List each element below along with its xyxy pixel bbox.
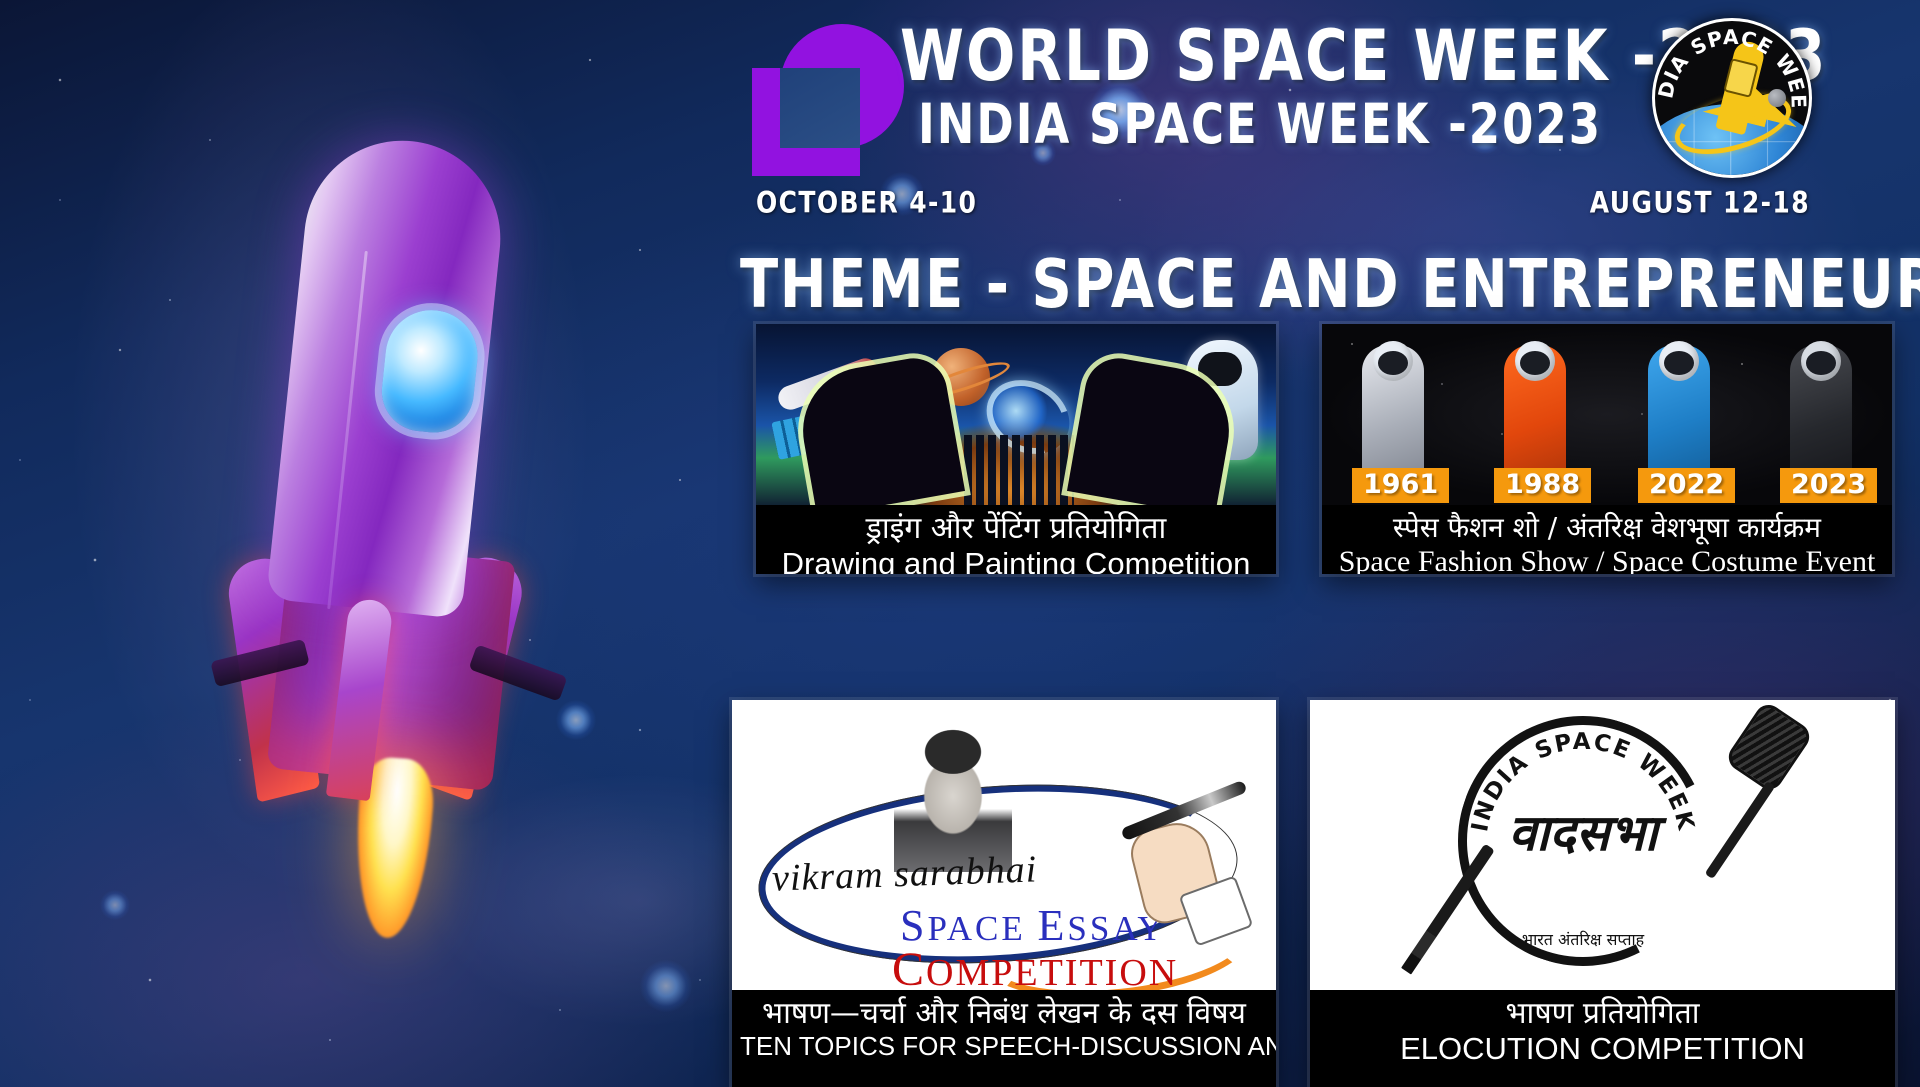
theme-headline: THEME - SPACE AND ENTREPRENEURSHIP: [740, 246, 1920, 324]
spacesuits-artwork-image: 1961 1988 2022 2023: [1322, 324, 1892, 505]
vaad-sabha-stamp: INDIA SPACE WEEK वादसभा भारत अंतरिक्ष सप…: [1458, 716, 1708, 966]
competition-rest: OMPETITION: [926, 952, 1178, 990]
year-badge-row: 1961 1988 2022 2023: [1322, 469, 1892, 503]
caption-hindi: भाषण—चर्चा और निबंध लेखन के दस विषय: [740, 996, 1268, 1031]
caption-hindi: भाषण प्रतियोगिता: [1318, 996, 1887, 1031]
signature-text: vikram sarabhai: [771, 847, 1038, 900]
microphone-stem: [1705, 781, 1776, 879]
date-august: AUGUST 12-18: [1590, 186, 1810, 220]
visor-icon: [1664, 351, 1694, 375]
essay-caption: भाषण—चर्चा और निबंध लेखन के दस विषय TEN …: [732, 990, 1276, 1074]
elocution-caption: भाषण प्रतियोगिता ELOCUTION COMPETITION: [1310, 990, 1895, 1080]
card-space-essay-competition[interactable]: vikram sarabhai SPACE ESSAY COMPETITION …: [732, 700, 1276, 1087]
card-space-fashion-show[interactable]: 1961 1988 2022 2023 स्पेस फैशन शो / अंतर…: [1322, 324, 1892, 574]
card-drawing-painting[interactable]: ड्राइंग और पेंटिंग प्रतियोगिता Drawing a…: [756, 324, 1276, 574]
year-badge: 1988: [1494, 468, 1591, 503]
year-badge: 2023: [1780, 468, 1877, 503]
visor-icon: [1520, 351, 1550, 375]
caption-english: TEN TOPICS FOR SPEECH-DISCUSSION AND ESS…: [740, 1031, 1268, 1062]
microphone-icon: [1723, 700, 1814, 794]
caption-english: Space Fashion Show / Space Costume Event: [1330, 544, 1884, 574]
caption-hindi: स्पेस फैशन शो / अंतरिक्ष वेशभूषा कार्यक्…: [1330, 511, 1884, 544]
caption-english: ELOCUTION COMPETITION: [1318, 1031, 1887, 1068]
drawing-artwork-image: [756, 324, 1276, 505]
competition-text: COMPETITION: [892, 942, 1178, 990]
star-glow: [100, 890, 130, 920]
date-october: OCTOBER 4-10: [756, 186, 977, 220]
drawing-caption: ड्राइंग और पेंटिंग प्रतियोगिता Drawing a…: [756, 505, 1276, 574]
badge-ring: INDIA SPACE WEEK: [1652, 18, 1812, 178]
world-space-week-logo: [752, 24, 904, 176]
elocution-logo-image: INDIA SPACE WEEK वादसभा भारत अंतरिक्ष सप…: [1310, 700, 1895, 990]
rocket-illustration: [170, 130, 600, 890]
moon-icon: [1768, 89, 1786, 107]
india-space-week-badge: INDIA SPACE WEEK: [1652, 18, 1812, 178]
year-badge: 1961: [1352, 468, 1449, 503]
logo-intersection-cutout: [780, 68, 860, 148]
poster-title-block: WORLD SPACE WEEK -2023 INDIA SPACE WEEK …: [900, 24, 1620, 142]
caption-english: Drawing and Painting Competition: [764, 546, 1268, 574]
hand-with-pen-icon: [1122, 796, 1252, 946]
star-glow: [640, 960, 692, 1012]
competition-cap-c: C: [892, 943, 926, 990]
city-skyline-icon: [964, 435, 1074, 505]
stamp-center-hindi: वादसभा: [1508, 797, 1657, 865]
visor-icon: [1378, 351, 1408, 375]
visor-icon: [1806, 351, 1836, 375]
essay-logo-image: vikram sarabhai SPACE ESSAY COMPETITION: [732, 700, 1276, 990]
caption-hindi: ड्राइंग और पेंटिंग प्रतियोगिता: [764, 511, 1268, 546]
poster-canvas: WORLD SPACE WEEK -2023 INDIA SPACE WEEK …: [0, 0, 1920, 1087]
title-india-space-week: INDIA SPACE WEEK -2023: [900, 98, 1620, 152]
title-world-space-week: WORLD SPACE WEEK -2023: [900, 24, 1620, 87]
stamp-bottom-hindi: भारत अंतरिक्ष सप्ताह: [1522, 928, 1644, 950]
year-badge: 2022: [1638, 468, 1735, 503]
card-elocution-competition[interactable]: INDIA SPACE WEEK वादसभा भारत अंतरिक्ष सप…: [1310, 700, 1895, 1087]
fashion-caption: स्पेस फैशन शो / अंतरिक्ष वेशभूषा कार्यक्…: [1322, 505, 1892, 574]
